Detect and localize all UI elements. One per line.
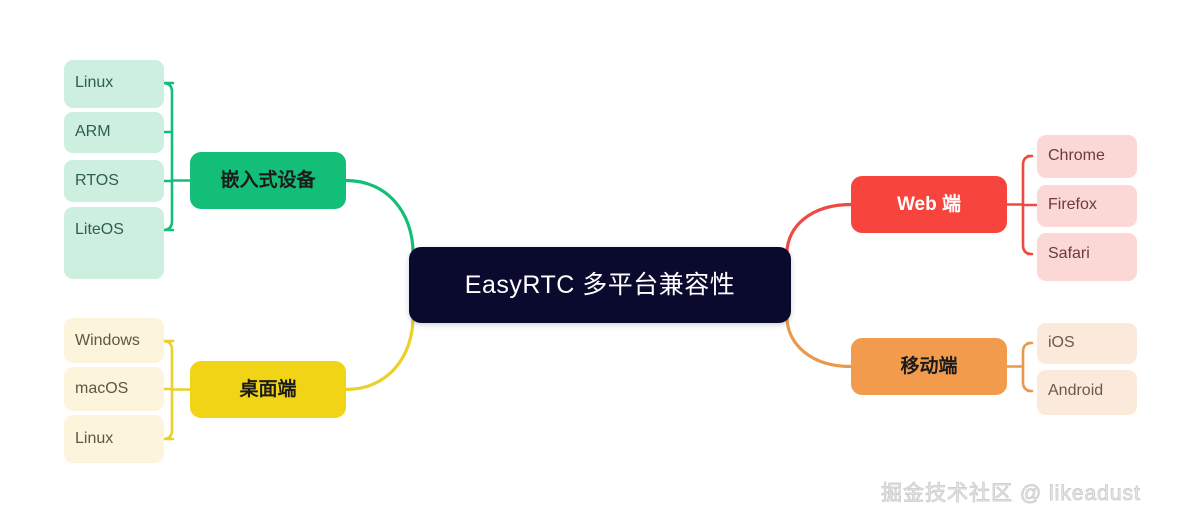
- leaf-node-embedded-0[interactable]: Linux: [64, 60, 164, 108]
- mindmap-canvas: EasyRTC 多平台兼容性 嵌入式设备LinuxARMRTOSLiteOS桌面…: [0, 0, 1197, 521]
- branch-node-web[interactable]: Web 端: [851, 176, 1007, 233]
- leaf-node-embedded-1[interactable]: ARM: [64, 112, 164, 153]
- leaf-node-web-2[interactable]: Safari: [1037, 233, 1137, 281]
- branch-node-label: Web 端: [851, 176, 1007, 233]
- watermark: 掘金技术社区 @ likeadust: [881, 477, 1141, 507]
- leaf-spine-embedded: [163, 83, 173, 230]
- branch-node-mobile[interactable]: 移动端: [851, 338, 1007, 395]
- branch-connector-embedded: [346, 181, 413, 254]
- branch-connector-web: [787, 205, 851, 254]
- branch-node-label: 桌面端: [190, 361, 346, 418]
- leaf-node-web-1[interactable]: Firefox: [1037, 185, 1137, 227]
- central-node[interactable]: EasyRTC 多平台兼容性: [409, 247, 791, 323]
- leaf-node-label: Linux: [64, 428, 164, 450]
- leaf-node-desktop-1[interactable]: macOS: [64, 367, 164, 411]
- branch-node-label: 嵌入式设备: [190, 152, 346, 209]
- leaf-node-label: Windows: [64, 330, 164, 352]
- leaf-node-label: ARM: [64, 121, 164, 143]
- leaf-node-desktop-0[interactable]: Windows: [64, 318, 164, 363]
- leaf-node-label: Linux: [64, 72, 164, 94]
- branch-connector-desktop: [346, 317, 413, 390]
- leaf-node-label: Android: [1037, 380, 1137, 402]
- branch-node-desktop[interactable]: 桌面端: [190, 361, 346, 418]
- leaf-node-web-0[interactable]: Chrome: [1037, 135, 1137, 178]
- leaf-spine-desktop: [163, 341, 173, 439]
- central-node-label: EasyRTC 多平台兼容性: [409, 247, 791, 323]
- leaf-node-label: RTOS: [64, 170, 164, 192]
- leaf-node-label: iOS: [1037, 332, 1137, 354]
- leaf-node-desktop-2[interactable]: Linux: [64, 415, 164, 463]
- leaf-node-embedded-3[interactable]: LiteOS: [64, 207, 164, 279]
- leaf-spine-mobile: [1023, 343, 1032, 391]
- leaf-spine-web: [1023, 156, 1032, 254]
- branch-node-label: 移动端: [851, 338, 1007, 395]
- branch-node-embedded[interactable]: 嵌入式设备: [190, 152, 346, 209]
- leaf-node-mobile-1[interactable]: Android: [1037, 370, 1137, 415]
- branch-connector-mobile: [787, 317, 851, 367]
- leaf-node-label: LiteOS: [64, 219, 164, 241]
- leaf-node-label: Safari: [1037, 243, 1137, 265]
- leaf-node-embedded-2[interactable]: RTOS: [64, 160, 164, 202]
- leaf-node-label: Firefox: [1037, 194, 1137, 216]
- leaf-node-label: macOS: [64, 378, 164, 400]
- leaf-node-label: Chrome: [1037, 145, 1137, 167]
- leaf-node-mobile-0[interactable]: iOS: [1037, 323, 1137, 364]
